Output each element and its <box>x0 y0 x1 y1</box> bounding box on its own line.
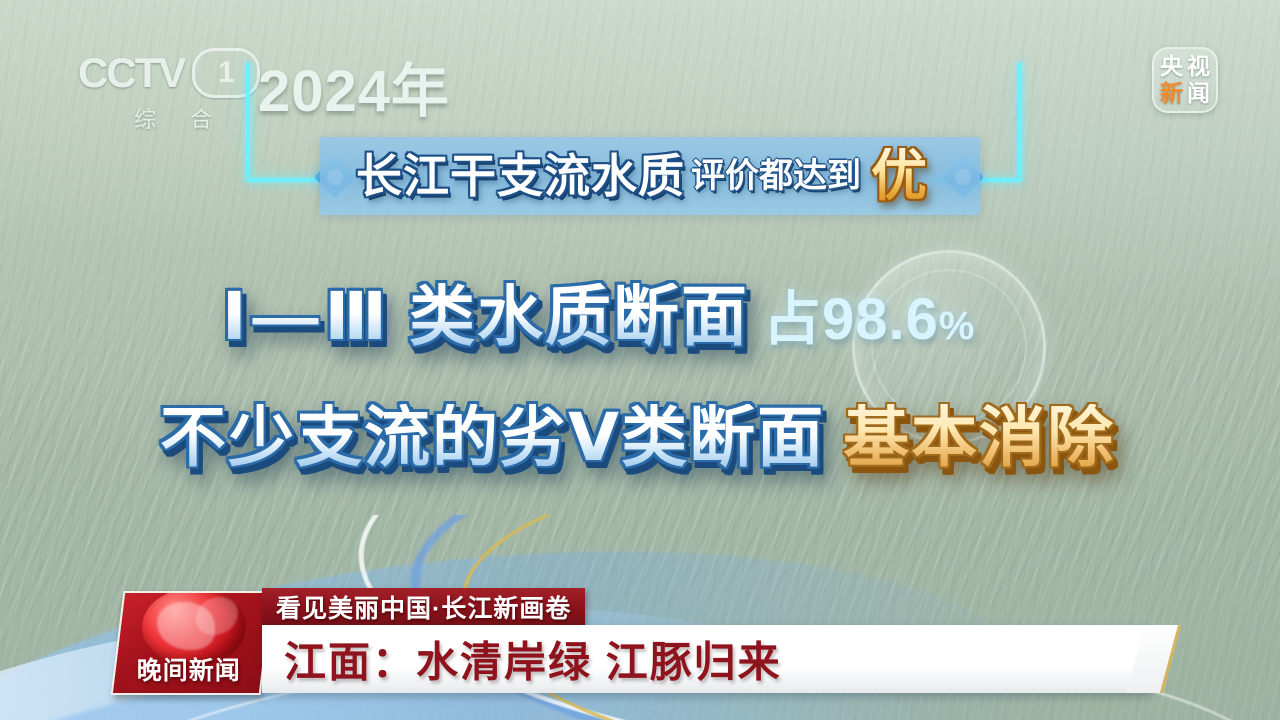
inferior-v-label: 不少支流的劣Ⅴ类断面 <box>160 404 825 470</box>
banner-secondary-text: 评价都达到 <box>691 159 861 193</box>
banner-primary-text: 长江干支流水质 <box>356 153 685 199</box>
program-badge: 晚间新闻 <box>111 591 274 695</box>
channel-subtitle: 综 合 <box>78 102 268 134</box>
headline-text: 江面：水清岸绿 江豚归来 <box>284 629 782 690</box>
metric-value: 98.6 <box>822 287 939 352</box>
year-label: 2024年 <box>258 44 450 128</box>
kicker-bar: 看见美丽中国·长江新画卷 <box>262 588 585 625</box>
news-logo-char-2: 视 <box>1187 55 1210 78</box>
metric-prefix: 占 <box>763 287 822 352</box>
statement-inferior-v-sections: 不少支流的劣Ⅴ类断面 基本消除 <box>160 404 1115 470</box>
channel-number: 1 <box>218 56 235 90</box>
cctv-wordmark: CCTV <box>78 49 184 97</box>
lower-third: 晚间新闻 看见美丽中国·长江新画卷 江面：水清岸绿 江豚归来 <box>0 515 1280 720</box>
bracket-right-vertical <box>1018 62 1022 178</box>
news-logo-char-1: 央 <box>1160 55 1183 78</box>
news-logo-char-4: 闻 <box>1187 82 1210 105</box>
cctv-news-logo: 央 视 新 闻 <box>1152 47 1218 113</box>
kicker-text: 看见美丽中国·长江新画卷 <box>276 589 571 625</box>
news-logo-char-3: 新 <box>1160 82 1183 105</box>
metric-unit: % <box>939 304 976 348</box>
section-type-label: 类水质断面 <box>409 283 749 349</box>
headline-banner-content: 长江干支流水质 评价都达到 优 <box>320 137 980 215</box>
channel-number-badge: 1 <box>192 48 260 98</box>
broadcast-screen: CCTV 1 综 合 央 视 新 闻 2024年 长江干支流水质 评价都达到 优 <box>0 0 1280 720</box>
headline-bar: 江面：水清岸绿 江豚归来 <box>262 625 1150 693</box>
headline-banner: 长江干支流水质 评价都达到 优 <box>320 137 980 215</box>
program-badge-label: 晚间新闻 <box>116 651 262 687</box>
metric-percentage: 占98.6% <box>763 291 975 349</box>
roman-range-label: Ⅰ—Ⅲ <box>222 283 393 349</box>
banner-highlight-grade: 优 <box>871 148 927 204</box>
statement-water-quality-sections: Ⅰ—Ⅲ 类水质断面 占98.6% <box>222 283 975 349</box>
inferior-v-emphasis: 基本消除 <box>843 404 1115 470</box>
